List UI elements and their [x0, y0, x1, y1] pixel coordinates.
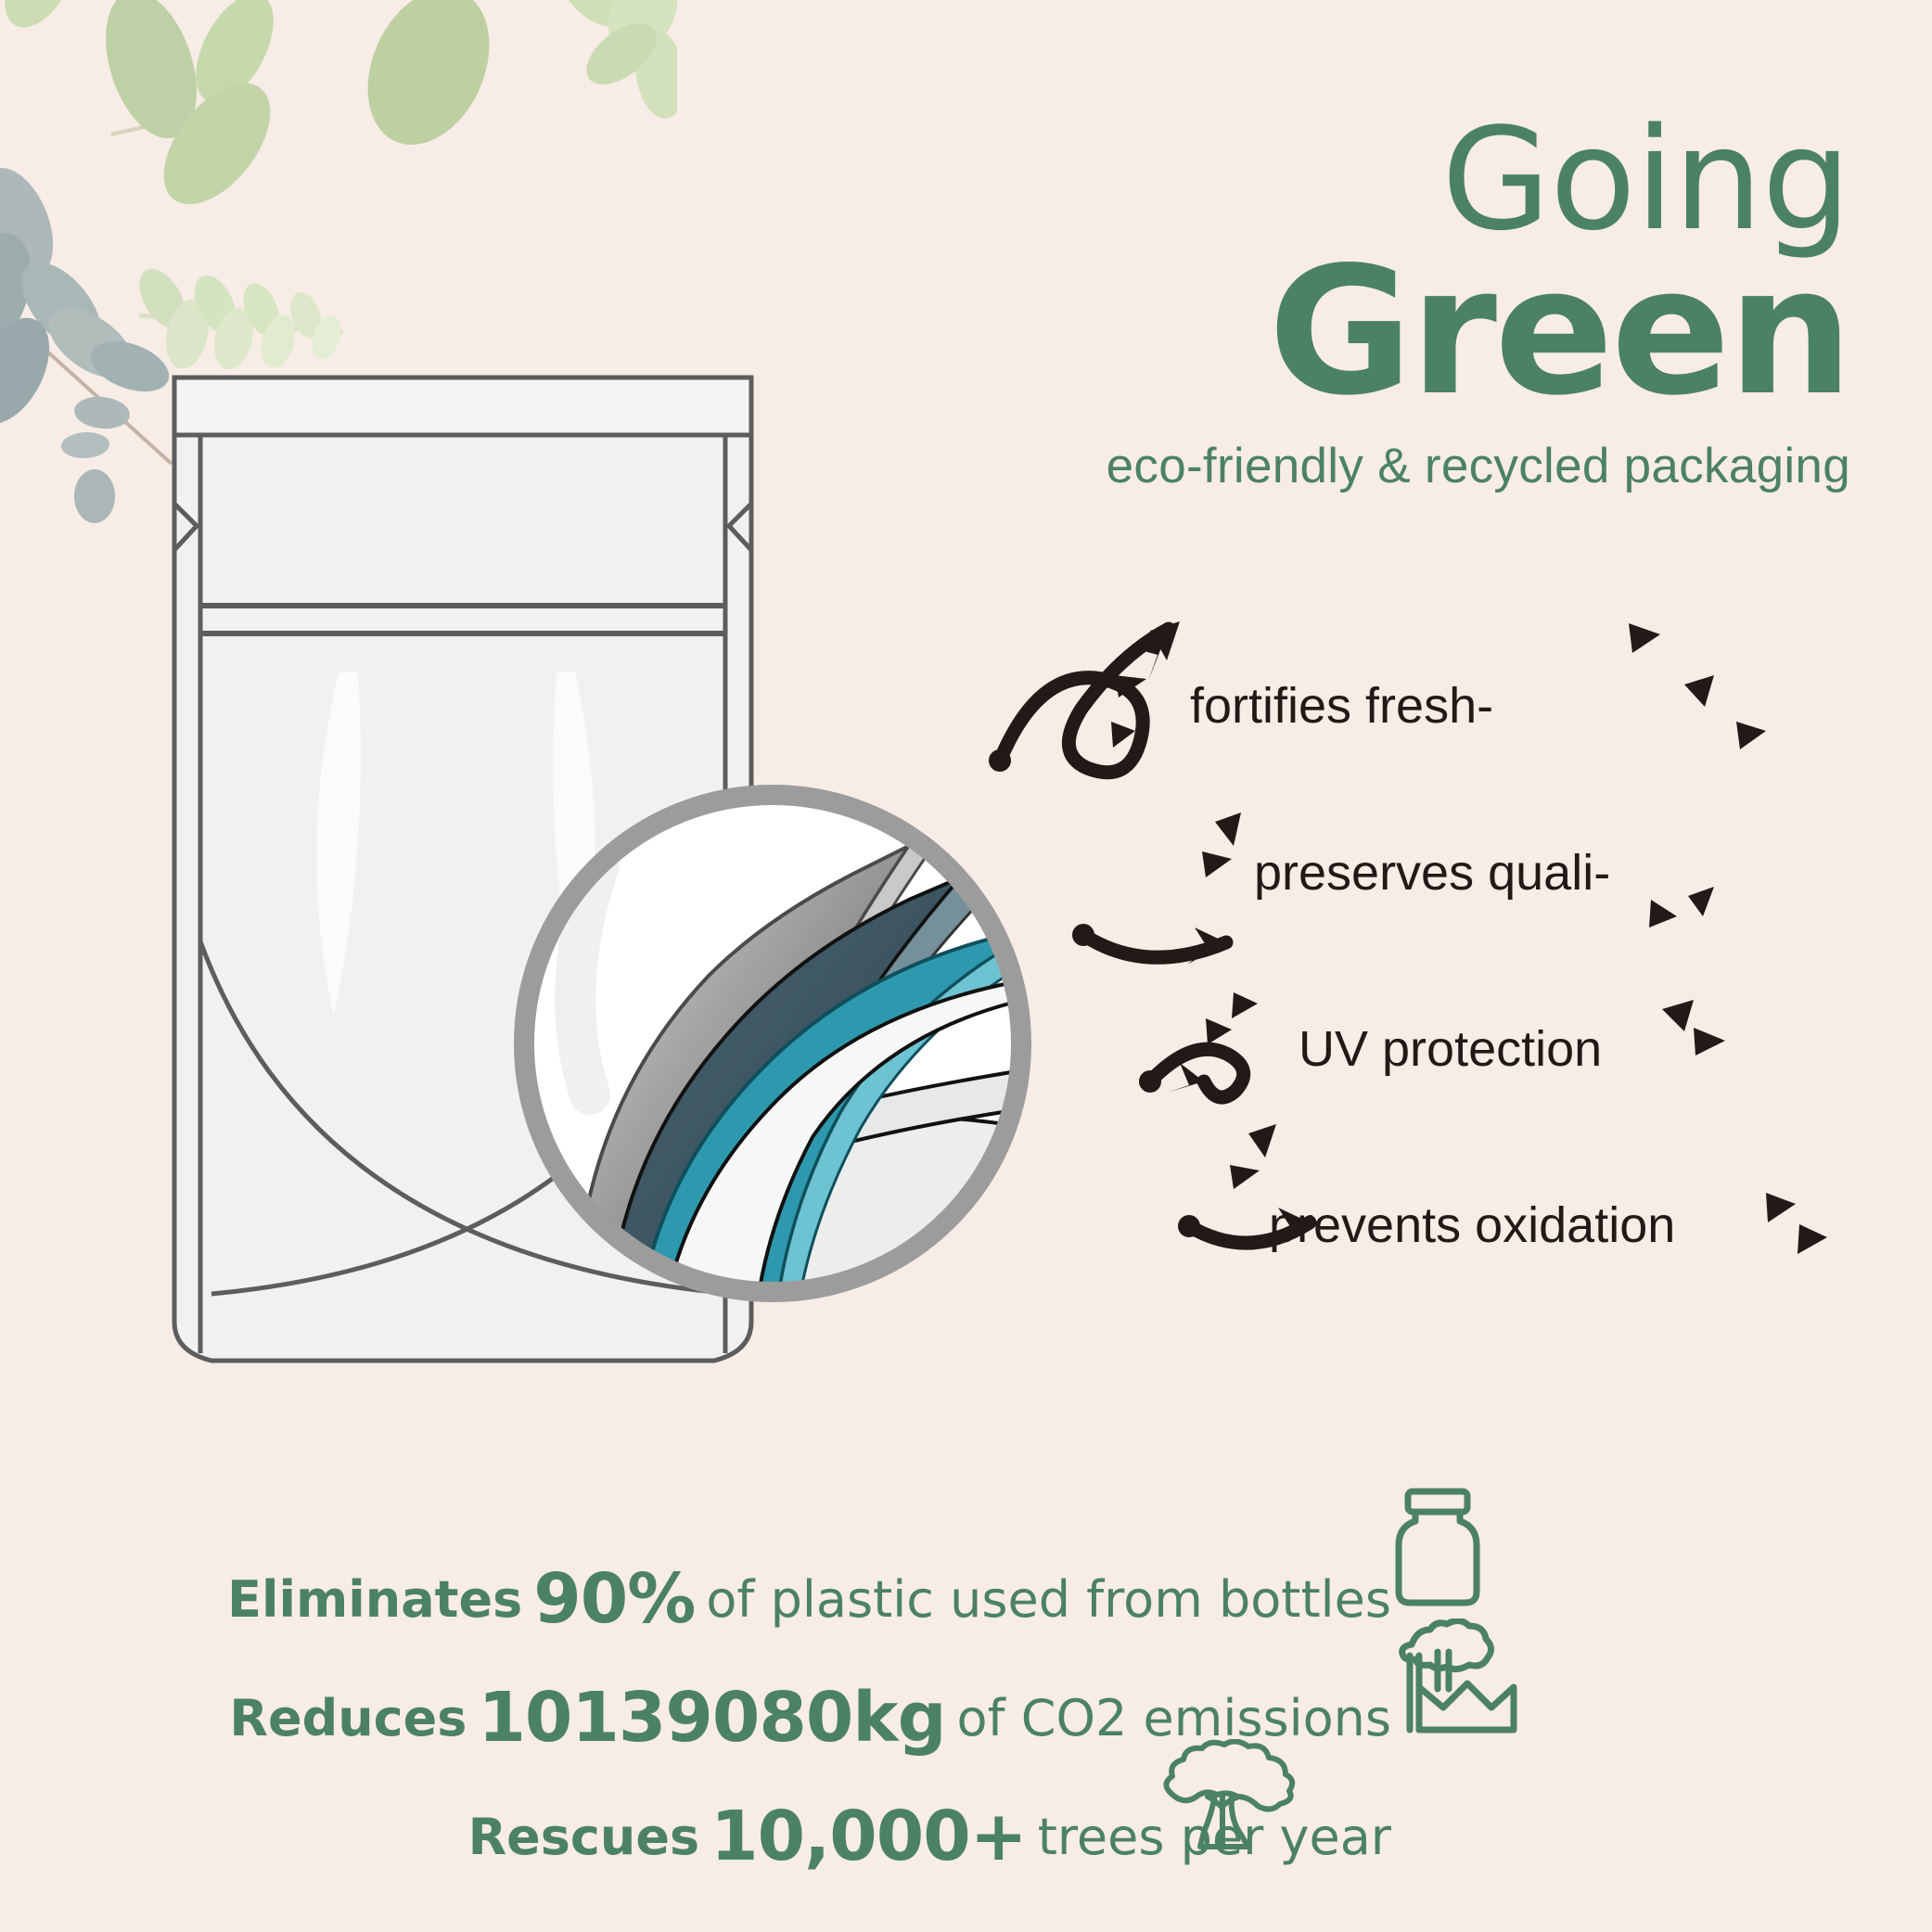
bottle-icon: [1384, 1484, 1503, 1614]
stat-suffix: of plastic used from bottles: [706, 1570, 1391, 1629]
tree-icon: [1159, 1739, 1300, 1863]
page-title-line1: Going: [784, 111, 1850, 248]
stat-prefix: Reduces: [229, 1689, 467, 1747]
factory-icon: [1391, 1619, 1527, 1737]
feature-label-preserves-quality: preserves quali-: [1254, 844, 1610, 902]
feature-label-prevents-oxidation: prevents oxidation: [1269, 1196, 1675, 1254]
headline-block: Going Green eco-friendly & recycled pack…: [784, 111, 1850, 494]
stat-row: Eliminates 90% of plastic used from bott…: [0, 1540, 1447, 1658]
feature-label-fortifies-fresh: fortifies fresh-: [1190, 677, 1493, 735]
page-subtitle: eco-friendly & recycled packaging: [784, 438, 1850, 494]
feature-label-uv-protection: UV protection: [1299, 1020, 1602, 1078]
stat-value: 90%: [522, 1559, 706, 1639]
stat-prefix: Rescues: [468, 1808, 700, 1866]
stat-value: 10139080kg: [467, 1678, 956, 1758]
page-title-line2: Green: [784, 251, 1850, 414]
infographic-canvas: Going Green eco-friendly & recycled pack…: [0, 0, 1932, 1932]
stat-prefix: Eliminates: [227, 1570, 522, 1629]
stat-value: 10,000+: [699, 1797, 1038, 1876]
material-layers-magnifier: [490, 761, 1056, 1326]
